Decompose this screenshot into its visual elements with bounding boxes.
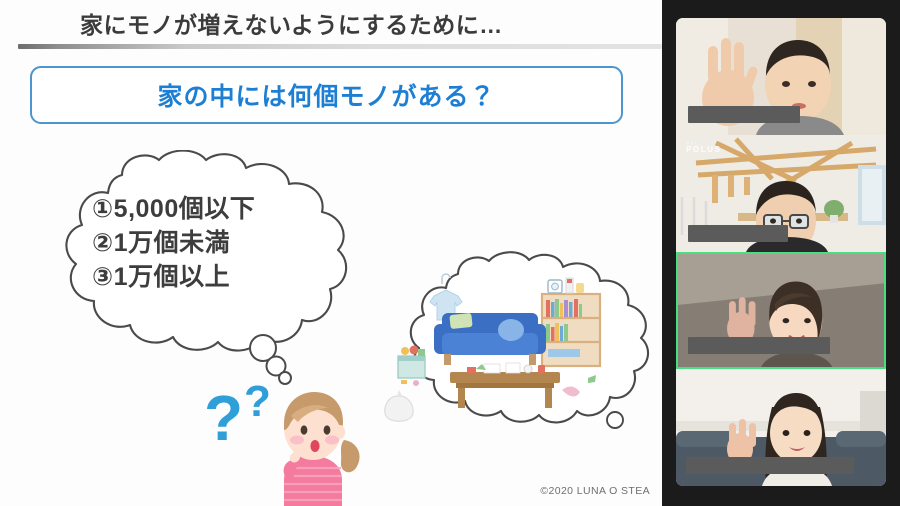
alarm-clock-icon bbox=[548, 280, 562, 293]
question-mark-icon: ? ? bbox=[204, 377, 271, 454]
participant-name-redaction-4 bbox=[686, 457, 854, 474]
laundry-bag-icon bbox=[385, 390, 413, 421]
participant-name-redaction-1 bbox=[688, 106, 800, 123]
presentation-slide: 家にモノが増えないようにするために… 家の中には何個モノがある？ ①5,000個… bbox=[0, 0, 662, 506]
video-tile-2[interactable]: ポラス POLUS bbox=[676, 135, 886, 252]
title-divider bbox=[18, 44, 662, 49]
question-text: 家の中には何個モノがある？ bbox=[157, 77, 495, 113]
toy-box-icon bbox=[398, 346, 425, 387]
room-cloud-trail-bubbles bbox=[607, 412, 623, 428]
woman-body bbox=[284, 452, 342, 506]
slide-title: 家にモノが増えないようにするために… bbox=[80, 6, 503, 40]
polus-watermark: ポラス POLUS bbox=[686, 142, 722, 154]
svg-text:?: ? bbox=[244, 377, 271, 426]
copyright-text: ©2020 LUNA O STEA bbox=[540, 485, 650, 497]
svg-text:?: ? bbox=[204, 382, 243, 454]
thinking-woman-illustration: ? ? bbox=[196, 368, 376, 506]
answer-option-2[interactable]: ②1万個未満 bbox=[92, 226, 342, 260]
screen: 家にモノが増えないようにするために… 家の中には何個モノがある？ ①5,000個… bbox=[0, 0, 900, 506]
answer-option-3[interactable]: ③1万個以上 bbox=[92, 260, 342, 294]
video-tile-1[interactable] bbox=[676, 18, 886, 135]
video-tile-4[interactable] bbox=[676, 369, 886, 486]
participant-name-redaction-2 bbox=[688, 225, 788, 242]
woman-thinking-icon: ? ? bbox=[196, 368, 376, 506]
cluttered-room-thought-cloud bbox=[372, 250, 662, 440]
polus-watermark-text: POLUS bbox=[686, 145, 722, 154]
video-conference-panel: ポラス POLUS bbox=[662, 0, 900, 506]
question-box: 家の中には何個モノがある？ bbox=[30, 66, 623, 124]
video-tile-3-active-speaker[interactable] bbox=[676, 252, 886, 369]
room-thought-cloud-illustration bbox=[372, 250, 662, 440]
participant-name-redaction-3 bbox=[688, 337, 830, 354]
answer-options-list: ①5,000個以下 ②1万個未満 ③1万個以上 bbox=[92, 192, 342, 294]
answer-option-1[interactable]: ①5,000個以下 bbox=[92, 192, 342, 226]
answer-options-thought-cloud: ①5,000個以下 ②1万個未満 ③1万個以上 bbox=[14, 150, 384, 385]
